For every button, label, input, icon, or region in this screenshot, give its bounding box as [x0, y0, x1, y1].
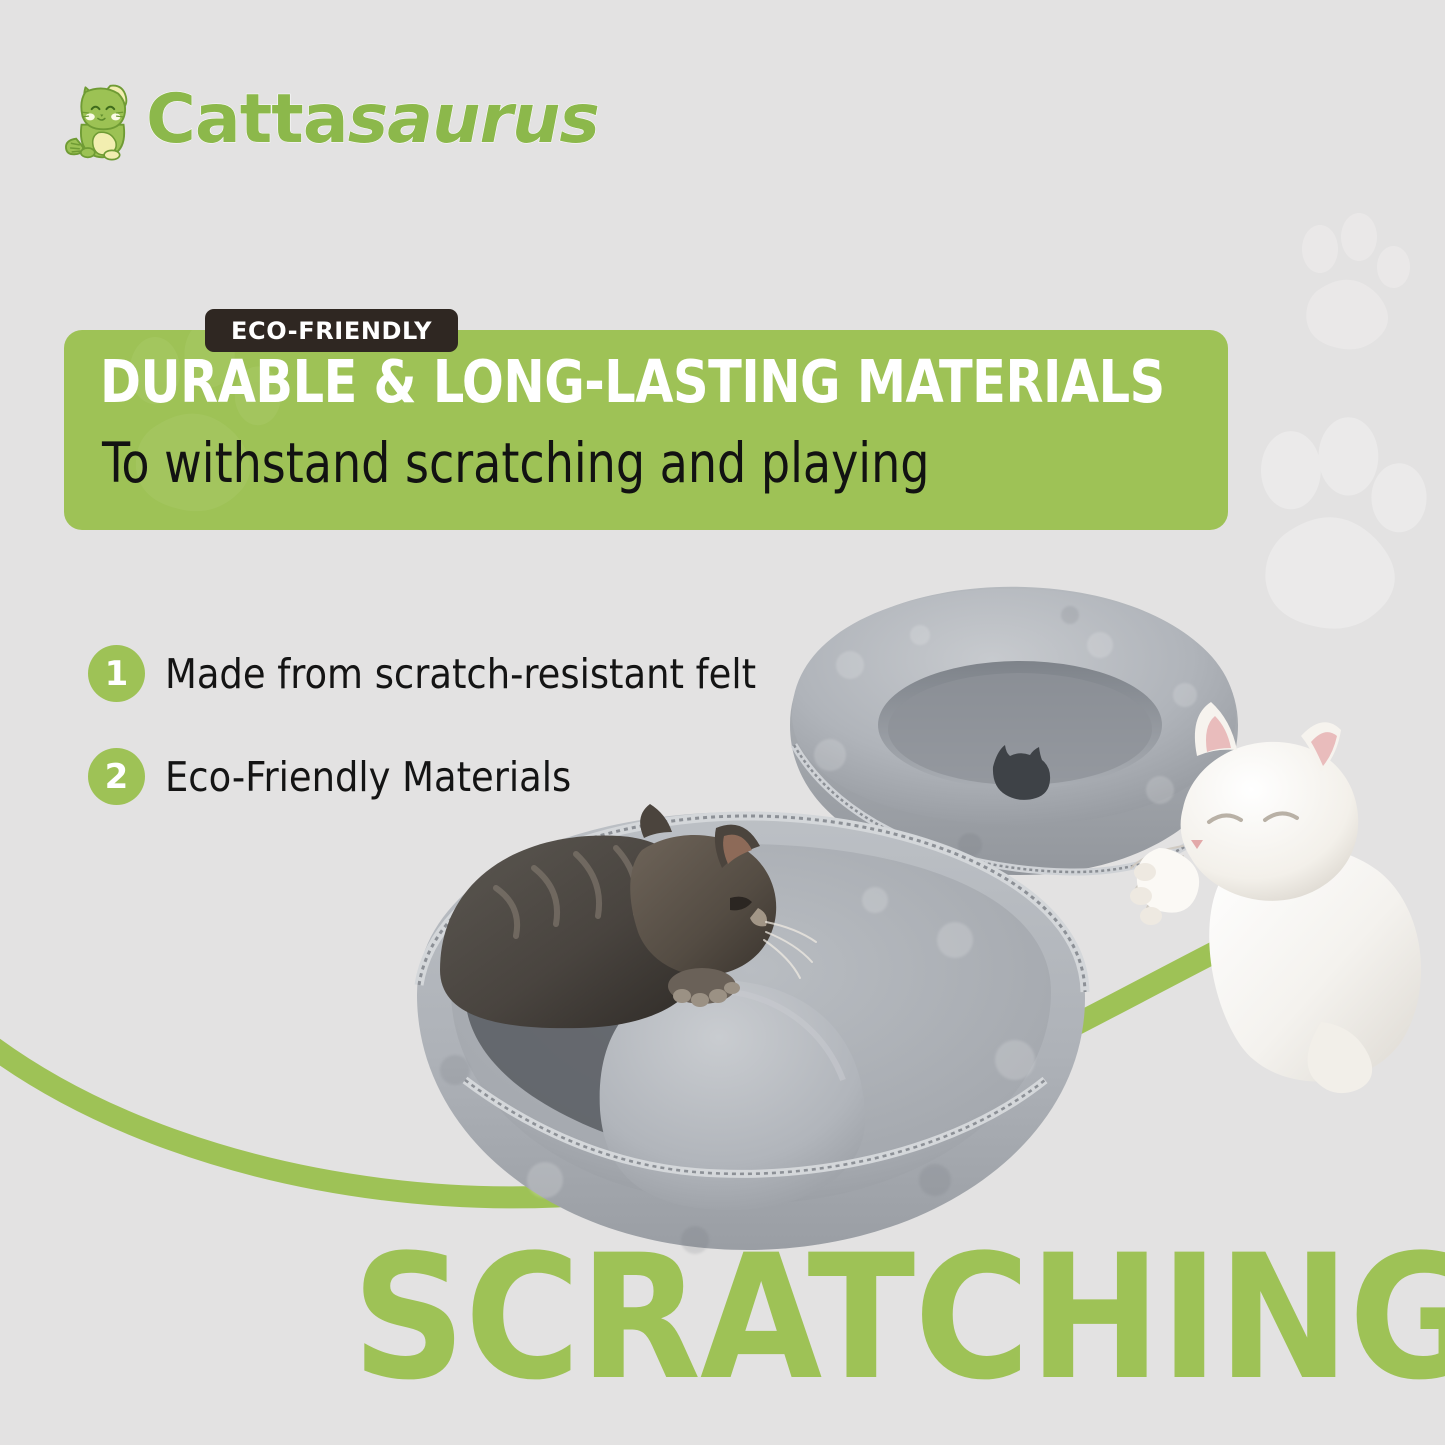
marketing-canvas: Cattasaurus DURABLE & LONG-LASTING MATER…	[0, 0, 1445, 1445]
feature-number: 2	[88, 748, 145, 805]
status-badge: ECO-FRIENDLY	[205, 309, 458, 352]
feature-number: 1	[88, 645, 145, 702]
brand-name-italic: saurus	[348, 80, 599, 159]
feature-label: Made from scratch-resistant felt	[165, 650, 756, 698]
badge-label: ECO-FRIENDLY	[231, 317, 432, 345]
tabby-cat-photo	[430, 790, 830, 1070]
banner-headline: DURABLE & LONG-LASTING MATERIALS	[100, 352, 1165, 411]
list-item: 1 Made from scratch-resistant felt	[88, 645, 756, 702]
headline-banner: DURABLE & LONG-LASTING MATERIALS To with…	[64, 330, 1228, 530]
brand-logo[interactable]: Cattasaurus	[62, 78, 599, 162]
paw-print-icon	[1275, 210, 1425, 360]
cat-dinosaur-mascot-icon	[62, 78, 140, 162]
banner-subheadline: To withstand scratching and playing	[102, 436, 929, 491]
brand-name: Cattasaurus	[146, 86, 599, 154]
brand-name-bold: Catta	[146, 80, 348, 159]
white-cat-photo	[1125, 690, 1445, 1100]
